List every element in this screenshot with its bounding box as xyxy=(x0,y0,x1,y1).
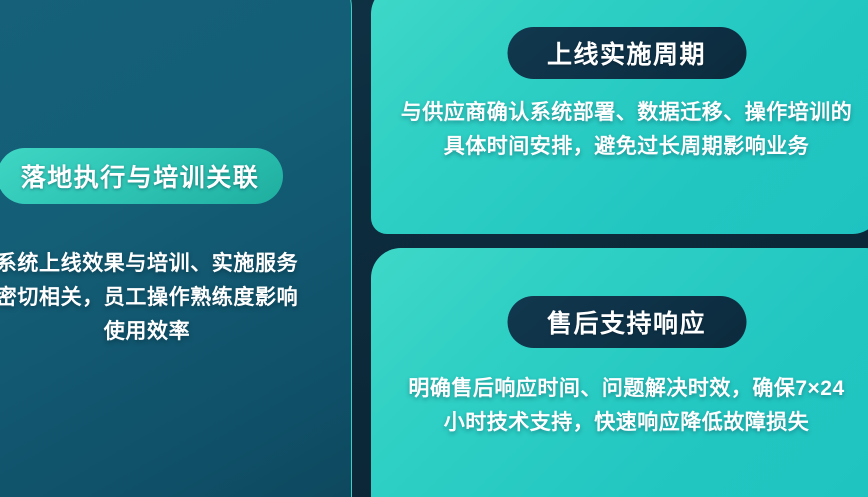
left-panel-content: 落地执行与培训关联 系统上线效果与培训、实施服务密切相关，员工操作熟练度影响使用… xyxy=(0,1,323,497)
card-body-text: 与供应商确认系统部署、数据迁移、操作培训的具体时间安排，避免过长周期影响业务 xyxy=(399,96,854,164)
card-after-sales-support-response: 售后支持响应 明确售后响应时间、问题解决时效，确保7×24小时技术支持，快速响应… xyxy=(371,248,868,497)
slide-canvas: 落地执行与培训关联 系统上线效果与培训、实施服务密切相关，员工操作熟练度影响使用… xyxy=(0,0,868,497)
card-title-pill: 上线实施周期 xyxy=(507,27,746,79)
card-body-text: 明确售后响应时间、问题解决时效，确保7×24小时技术支持，快速响应降低故障损失 xyxy=(399,372,854,440)
card-title: 售后支持响应 xyxy=(547,304,706,340)
card-online-implementation-cycle: 上线实施周期 与供应商确认系统部署、数据迁移、操作培训的具体时间安排，避免过长周… xyxy=(371,0,868,234)
left-panel-title: 落地执行与培训关联 xyxy=(21,158,260,194)
left-panel-body-text: 系统上线效果与培训、实施服务密切相关，员工操作熟练度影响使用效率 xyxy=(0,247,303,349)
left-panel-title-pill: 落地执行与培训关联 xyxy=(0,148,283,204)
card-title-pill: 售后支持响应 xyxy=(507,296,746,348)
card-title: 上线实施周期 xyxy=(547,35,706,71)
left-panel: 落地执行与培训关联 系统上线效果与培训、实施服务密切相关，员工操作熟练度影响使用… xyxy=(0,0,352,497)
